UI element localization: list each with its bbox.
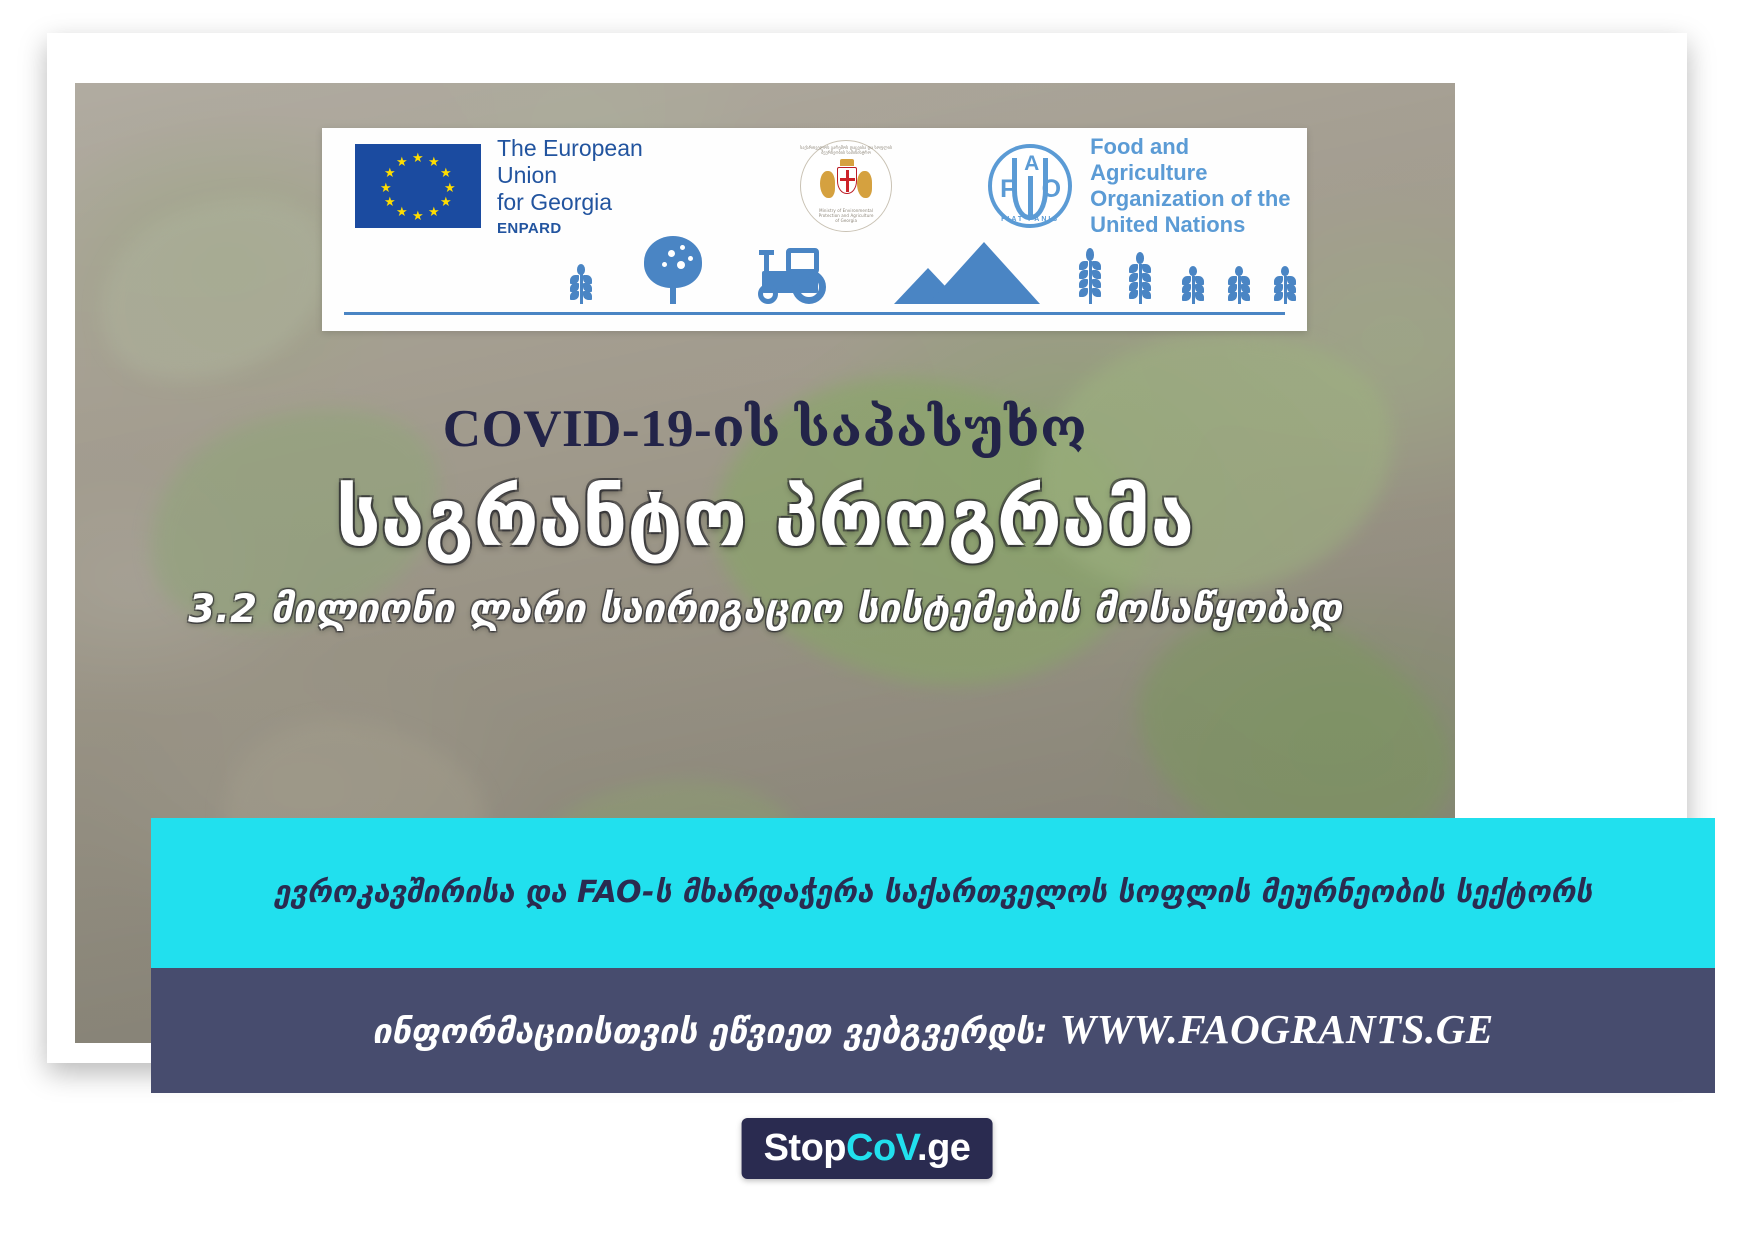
stopcov-badge[interactable]: StopCoV.ge	[742, 1118, 993, 1179]
fao-motto-text: FIAT PANIS	[992, 216, 1068, 223]
fao-stem	[1028, 176, 1033, 216]
fao-letter-a: A	[1024, 152, 1039, 176]
tree-icon	[644, 234, 702, 304]
tree-trunk	[670, 286, 676, 304]
tractor-icon	[756, 244, 826, 304]
eu-line-2: for Georgia	[497, 189, 704, 216]
grant-program-title: საგრანტო პროგრამა	[75, 472, 1455, 564]
stopcov-badge-text: StopCoV.ge	[764, 1127, 971, 1169]
stopcov-part-stop: Stop	[764, 1127, 846, 1169]
support-message-band: ევროკავშირისა და FAO-ს მხარდაჭერა საქართ…	[151, 818, 1715, 968]
website-band-text: ინფორმაციისთვის ეწვიეთ ვებგვერდს: WWW.FA…	[332, 1007, 1533, 1054]
stopcov-part-ge: .ge	[917, 1127, 970, 1169]
fao-emblem-icon: F A O FIAT PANIS	[988, 144, 1072, 228]
icon-band-rule	[344, 312, 1285, 315]
emblem-shield	[837, 167, 857, 194]
agriculture-icon-row	[344, 245, 1285, 307]
mountain-peak-large	[928, 242, 1040, 304]
wheat-small-icon	[1228, 266, 1250, 304]
support-message-text: ევროკავშირისა და FAO-ს მხარდაჭერა საქართ…	[234, 873, 1632, 913]
emblem-caption-georgian: საქართველოს გარემოს დაცვისა და სოფლის მე…	[800, 145, 892, 155]
website-band: ინფორმაციისთვის ეწვიეთ ვებგვერდს: WWW.FA…	[151, 968, 1715, 1093]
tractor-wheel-rear	[792, 270, 826, 304]
emblem-lion-right	[857, 171, 872, 198]
mountain-icon	[894, 242, 1040, 304]
emblem-caption-english: Ministry of Environmental Protection and…	[800, 208, 892, 223]
fao-letter-f: F	[1000, 175, 1015, 204]
eu-logo-block: ★ ★ ★ ★ ★ ★ ★ ★ ★ ★ ★ ★ The Europe	[355, 135, 704, 237]
grant-amount-subtitle: 3.2 მილიონი ლარი საირიგაციო სისტემების მ…	[75, 586, 1455, 634]
emblem-shield-group	[820, 162, 872, 210]
fao-line-1: Food and Agriculture	[1090, 134, 1307, 186]
tractor-wheel-front	[758, 284, 778, 304]
fao-letter-o: O	[1042, 175, 1061, 204]
eu-logo-text: The European Union for Georgia ENPARD	[497, 135, 704, 237]
emblem-crown	[840, 159, 854, 166]
fao-line-3: United Nations	[1090, 212, 1307, 238]
website-url[interactable]: WWW.FAOGRANTS.GE	[1060, 1006, 1494, 1052]
georgia-ministry-emblem-icon: საქართველოს გარემოს დაცვისა და სოფლის მე…	[800, 140, 892, 232]
eu-flag-icon: ★ ★ ★ ★ ★ ★ ★ ★ ★ ★ ★ ★	[355, 144, 481, 228]
poster-root: ★ ★ ★ ★ ★ ★ ★ ★ ★ ★ ★ ★ The Europe	[0, 0, 1754, 1256]
tree-crown	[644, 236, 702, 288]
emblem-lion-left	[820, 171, 835, 198]
wheat-small-icon	[1182, 266, 1204, 304]
fao-logo-text: Food and Agriculture Organization of the…	[1090, 134, 1307, 238]
covid-response-heading: COVID-19-ის საპასუხო	[75, 398, 1455, 460]
website-prefix-text: ინფორმაციისთვის ეწვიეთ ვებგვერდს:	[372, 1012, 1059, 1052]
stopcov-part-cov: CoV	[846, 1127, 917, 1169]
wheat-small-icon	[570, 264, 592, 304]
wheat-small-icon	[1274, 266, 1296, 304]
partner-logo-panel: ★ ★ ★ ★ ★ ★ ★ ★ ★ ★ ★ ★ The Europe	[322, 128, 1307, 331]
wheat-tall-icon	[1129, 252, 1151, 304]
fao-logo-block: F A O FIAT PANIS Food and Agriculture Or…	[988, 134, 1307, 238]
eu-line-1: The European Union	[497, 135, 704, 189]
fao-line-2: Organization of the	[1090, 186, 1307, 212]
emblem-caption-line-3: of Georgia	[800, 218, 892, 223]
agriculture-icon-band	[344, 241, 1285, 315]
logo-row: ★ ★ ★ ★ ★ ★ ★ ★ ★ ★ ★ ★ The Europe	[322, 128, 1307, 244]
poster-photo-card: ★ ★ ★ ★ ★ ★ ★ ★ ★ ★ ★ ★ The Europe	[47, 33, 1687, 1063]
wheat-tall-icon	[1079, 248, 1101, 304]
